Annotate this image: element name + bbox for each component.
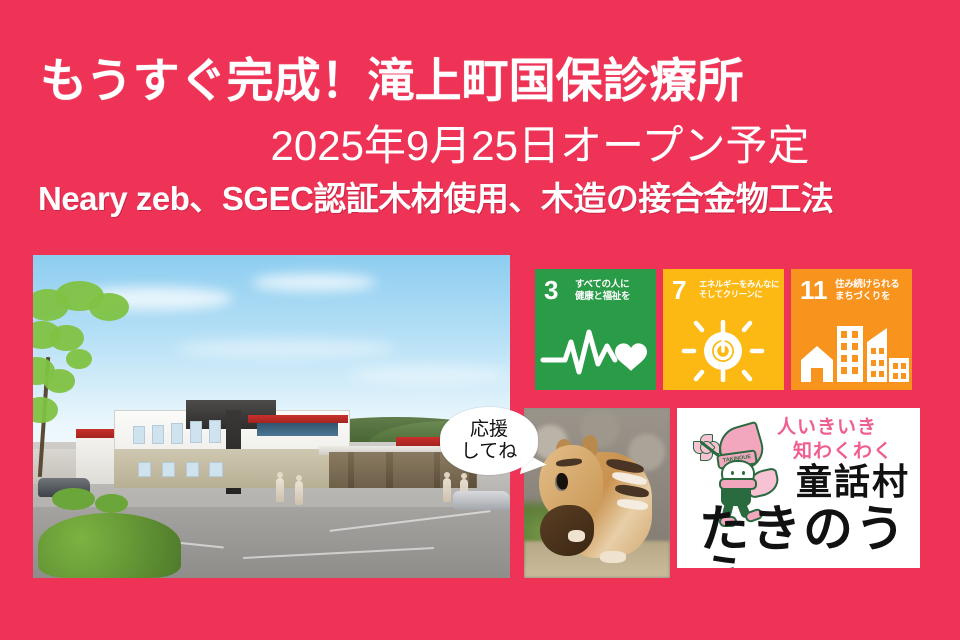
window	[171, 423, 183, 444]
chipmunk-eye	[555, 473, 568, 492]
window	[209, 462, 222, 477]
poster-canvas: もうすぐ完成！滝上町国保診療所 2025年9月25日オープン予定 Neary z…	[0, 0, 960, 640]
canopy-post	[386, 452, 393, 488]
person-figure	[295, 481, 303, 505]
sdg-label: 住み続けられる まちづくりを	[835, 279, 908, 303]
sdg-label-line1: すべての人に	[575, 279, 652, 291]
window	[209, 420, 221, 443]
speech-bubble: 応援 してね	[440, 407, 538, 475]
sdg-label-line2: まちづくりを	[835, 291, 908, 303]
sdg-label: エネルギーをみんなに そしてクリーンに	[699, 279, 780, 300]
shrub	[52, 488, 95, 511]
window	[186, 462, 199, 477]
sdg-label-line1: エネルギーをみんなに	[699, 279, 780, 289]
clinic-rendering-image	[33, 255, 510, 578]
tree-foliage	[44, 369, 75, 393]
speech-line2: してね	[461, 442, 517, 463]
cloud	[252, 274, 376, 290]
red-roof-accent	[248, 415, 348, 423]
sdg-number: 11	[800, 277, 828, 303]
page-title-line1: もうすぐ完成！滝上町国保診療所	[40, 57, 920, 104]
sdg-label-line2: そしてクリーンに	[699, 289, 780, 299]
sdg-icon-3: 3 すべての人に 健康と福祉を	[535, 269, 656, 390]
chipmunk-paw	[568, 530, 586, 542]
canopy-post	[348, 452, 355, 488]
fairy-eye	[731, 471, 734, 475]
city-buildings-icon	[791, 320, 911, 382]
sdg-label-line1: 住み続けられる	[835, 279, 908, 291]
sdg-icon-7: 7 エネルギーをみんなに そしてクリーンに	[663, 269, 784, 390]
cloud	[348, 365, 510, 384]
fairy-eye	[742, 471, 745, 475]
speech-line1: 応援	[470, 420, 508, 441]
tree-foliage	[66, 349, 92, 369]
logo-tagline-line1: 人いきいき	[777, 418, 877, 437]
page-title-line3: Neary zeb、SGEC認証木材使用、木造の接合金物工法	[38, 182, 928, 215]
foreground-tree	[33, 281, 167, 481]
nut-held	[540, 505, 594, 556]
fairy-scarf	[719, 478, 757, 490]
person-figure	[276, 478, 284, 502]
sdg-label-line2: 健康と福祉を	[575, 291, 652, 303]
logo-main-text: 童話村	[796, 464, 910, 500]
chipmunk-photo	[524, 408, 670, 578]
logo-inner: TAKINOUE 人いきいき 知わくわく 童話村 たきのうえ	[681, 412, 916, 564]
sdg-number: 3	[544, 277, 558, 303]
tree-foliage	[49, 325, 83, 351]
sun-power-icon	[663, 320, 783, 382]
tree-foliage	[89, 293, 129, 321]
logo-tagline-line2: 知わくわく	[793, 442, 893, 461]
foreground-bush	[38, 513, 181, 578]
heartbeat-icon	[535, 320, 655, 382]
chipmunk-paw	[600, 551, 626, 563]
window	[190, 421, 202, 442]
person-figure	[443, 478, 451, 502]
tree-foliage	[33, 397, 58, 423]
sdg-icon-11: 11 住み続けられる まちづくりを	[791, 269, 912, 390]
sdg-number: 7	[672, 277, 686, 303]
page-title-line2: 2025年9月25日オープン予定	[40, 125, 920, 167]
takinoue-logo-card: TAKINOUE 人いきいき 知わくわく 童話村 たきのうえ	[677, 408, 920, 568]
parked-car	[453, 491, 510, 510]
logo-sub-text: たきのうえ	[699, 504, 916, 568]
sdg-label: すべての人に 健康と福祉を	[575, 279, 652, 303]
speech-bubble-text: 応援 してね	[440, 407, 538, 475]
